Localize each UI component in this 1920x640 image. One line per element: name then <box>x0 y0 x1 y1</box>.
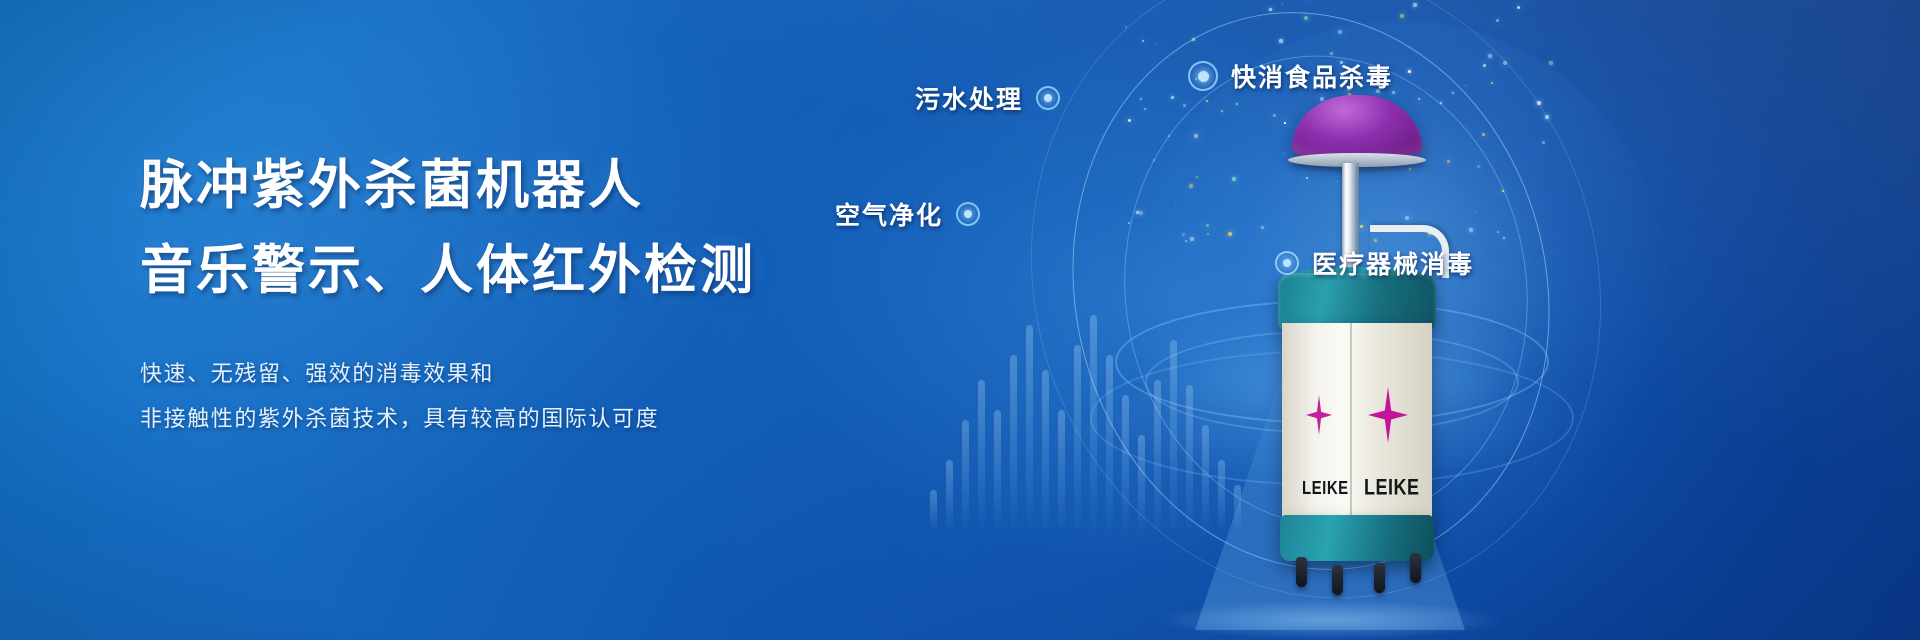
robot-wheel <box>1296 557 1307 587</box>
product-stage: LEIKE LEIKE 污水处理 快消食品杀毒 空气净化 医疗器械消毒 <box>940 0 1920 640</box>
hotspot-medical[interactable]: 医疗器械消毒 <box>1275 245 1474 281</box>
banner-subcopy: 快速、无残留、强效的消毒效果和 非接触性的紫外杀菌技术，具有较高的国际认可度 <box>140 352 860 442</box>
circle-node-icon <box>1036 86 1060 110</box>
hotspot-label: 医疗器械消毒 <box>1312 245 1474 281</box>
brand-label-right: LEIKE <box>1364 474 1420 500</box>
circle-node-icon <box>956 202 980 226</box>
hotspot-label: 空气净化 <box>835 196 943 232</box>
robot-wheel <box>1374 563 1385 593</box>
hotspot-air-purify[interactable]: 空气净化 <box>835 196 980 232</box>
subcopy-line-2: 非接触性的紫外杀菌技术，具有较高的国际认可度 <box>140 397 860 442</box>
robot-body-seam <box>1350 323 1352 521</box>
light-cone-base <box>1155 600 1505 640</box>
subcopy-line-1: 快速、无残留、强效的消毒效果和 <box>140 352 860 397</box>
circle-node-icon <box>1188 61 1218 91</box>
hotspot-label: 污水处理 <box>915 80 1023 116</box>
hotspot-label: 快消食品杀毒 <box>1231 58 1393 94</box>
page-title: 脉冲紫外杀菌机器人 音乐警示、人体红外检测 <box>140 150 860 306</box>
uv-lamp-head-icon <box>1292 95 1422 161</box>
robot-wheel <box>1332 565 1343 595</box>
headline-line-1: 脉冲紫外杀菌机器人 <box>140 154 644 216</box>
uv-robot-illustration: LEIKE LEIKE <box>1240 95 1470 565</box>
circle-node-icon <box>1275 251 1299 275</box>
hero-banner: 脉冲紫外杀菌机器人 音乐警示、人体红外检测 快速、无残留、强效的消毒效果和 非接… <box>0 0 1920 640</box>
brand-label-left: LEIKE <box>1302 478 1349 499</box>
banner-copy: 脉冲紫外杀菌机器人 音乐警示、人体红外检测 快速、无残留、强效的消毒效果和 非接… <box>140 150 860 442</box>
headline-line-2: 音乐警示、人体红外检测 <box>140 235 860 306</box>
hotspot-wastewater[interactable]: 污水处理 <box>915 80 1060 116</box>
hotspot-fmcg-food[interactable]: 快消食品杀毒 <box>1188 58 1393 94</box>
robot-head <box>1278 273 1436 329</box>
robot-wheel <box>1410 553 1421 583</box>
